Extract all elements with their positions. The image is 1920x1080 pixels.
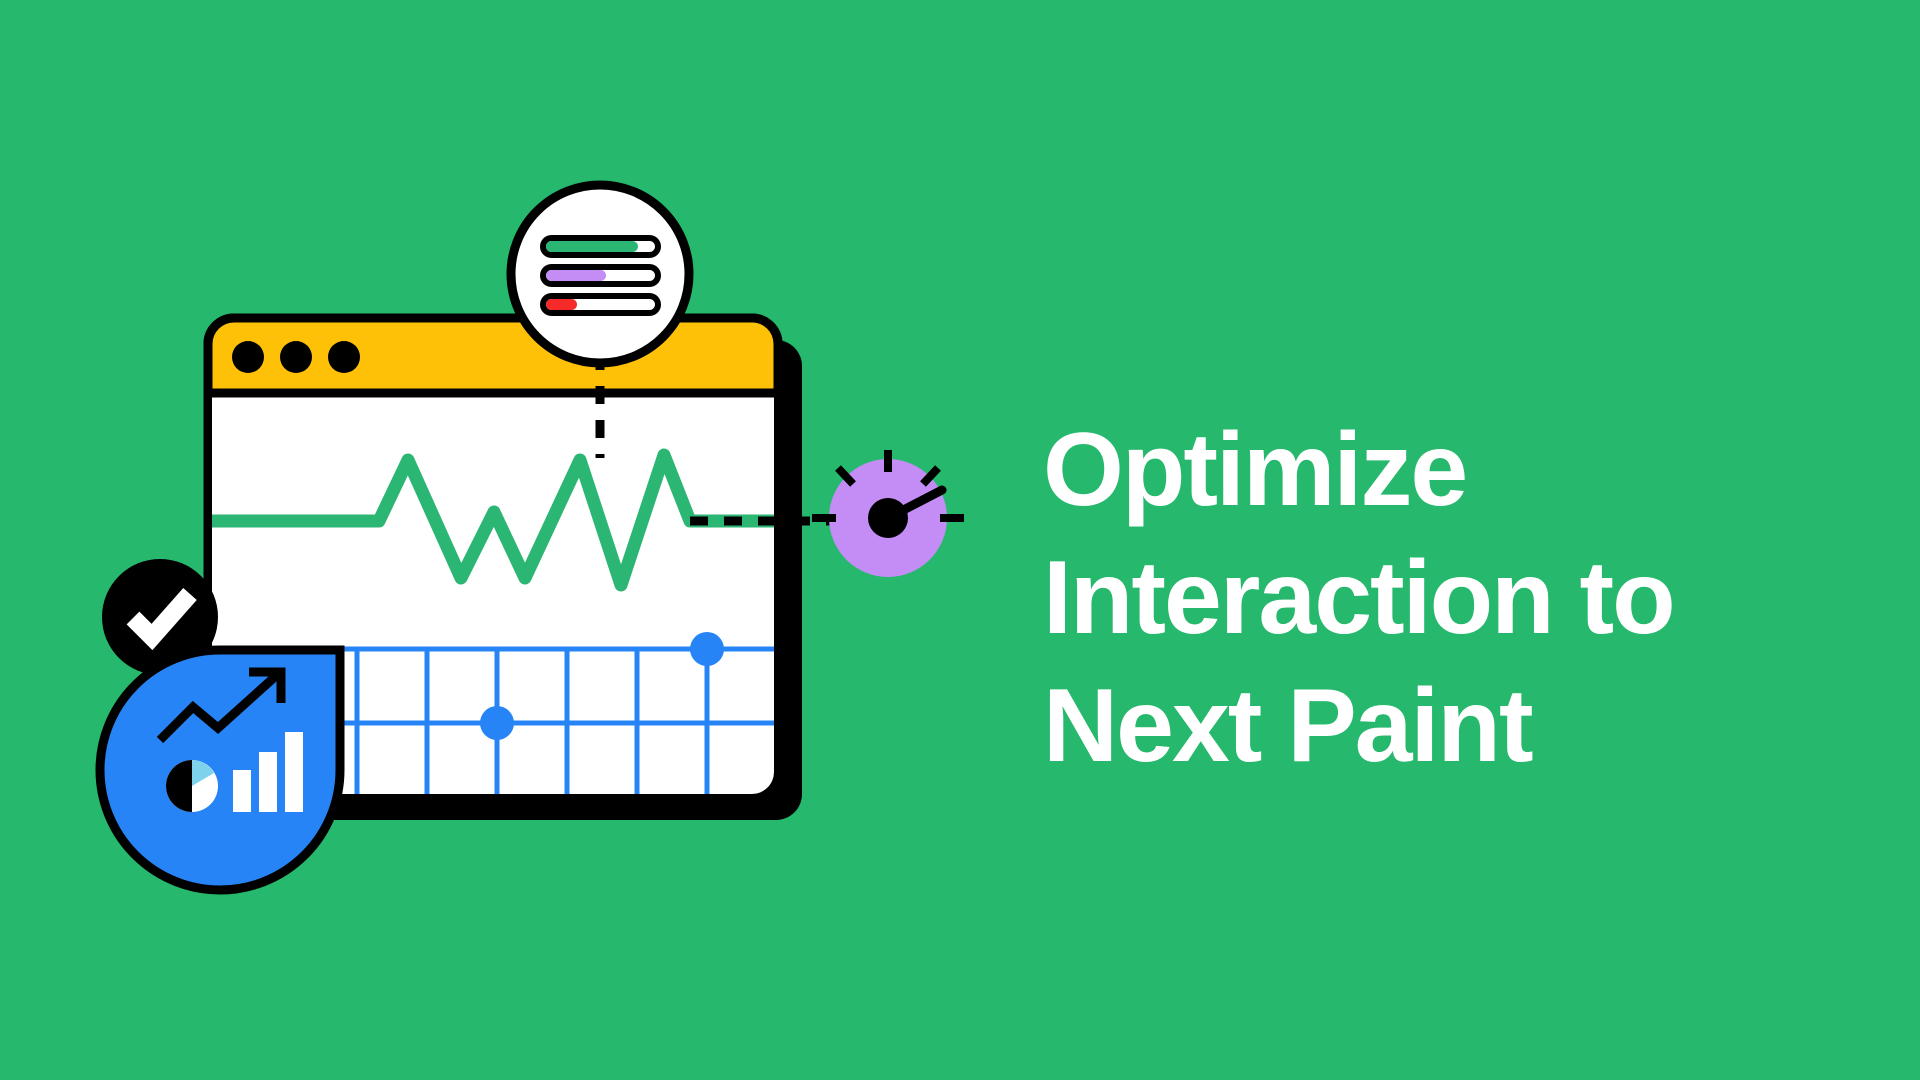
good-metric-bar[interactable]	[543, 238, 658, 255]
page-title: Optimize Interaction to Next Paint	[1043, 406, 1873, 790]
analytics-badge[interactable]	[100, 650, 340, 890]
minimize-dot[interactable]	[280, 341, 312, 373]
poor-metric-bar-fill	[546, 299, 577, 310]
data-point-2[interactable]	[690, 632, 724, 666]
good-metric-bar-fill	[546, 241, 638, 252]
close-dot[interactable]	[232, 341, 264, 373]
pie-chart-icon	[166, 760, 218, 812]
window-traffic-lights[interactable]	[232, 341, 360, 373]
hero-banner: Optimize Interaction to Next Paint	[0, 0, 1920, 1080]
analytics-badge-shape	[100, 650, 340, 890]
needs-improvement-metric-bar-fill	[546, 270, 606, 281]
poor-metric-bar[interactable]	[543, 296, 658, 313]
needs-improvement-metric-bar[interactable]	[543, 267, 658, 284]
maximize-dot[interactable]	[328, 341, 360, 373]
metrics-popover[interactable]	[511, 185, 689, 363]
gauge-hub	[868, 498, 908, 538]
data-point-1[interactable]	[480, 706, 514, 740]
